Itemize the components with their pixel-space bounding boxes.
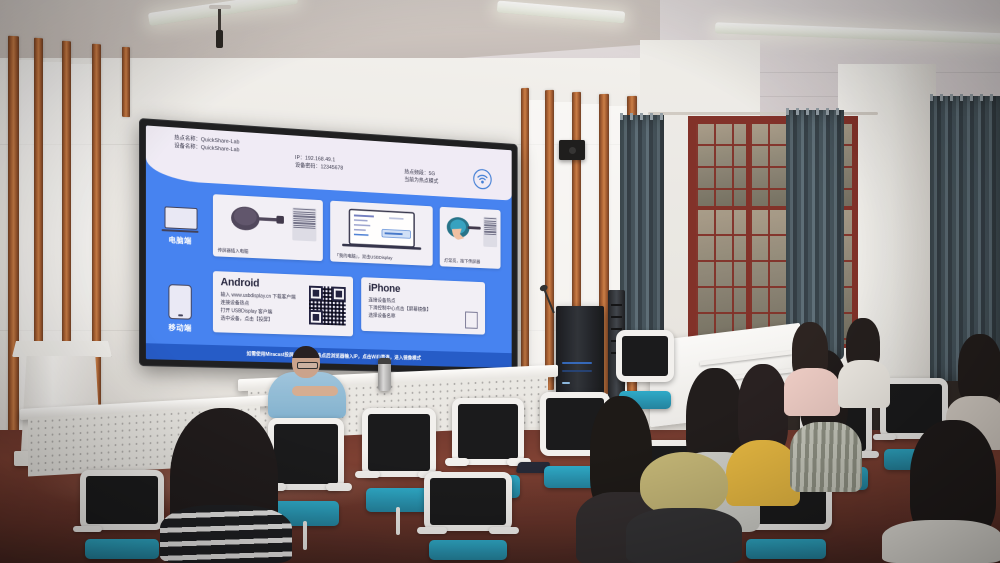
android-card[interactable]: Android 输入 www.usbdisplay.cn 下载客户端 连接设备热…: [213, 271, 353, 336]
wood-slat: [122, 47, 130, 117]
apple-logo-icon: : [463, 308, 480, 333]
smartphone-icon: [168, 284, 191, 320]
keyboard-icon: [292, 207, 316, 241]
wall-mounted-tv[interactable]: 热点名称：QuickShare-Lab 设备名称：QuickShare-Lab …: [139, 118, 518, 375]
dongle-to-laptop-icon: [228, 204, 286, 238]
tap-dongle-icon: [445, 215, 483, 247]
curtain[interactable]: [620, 115, 664, 353]
android-steps: 输入 www.usbdisplay.cn 下载客户端 连接设备热点 打开 USB…: [221, 291, 296, 325]
chair[interactable]: [424, 472, 512, 563]
laptop-icon: [162, 206, 199, 233]
wood-slat: [521, 88, 529, 388]
wall-speaker-icon: [559, 140, 585, 160]
row-label-pc: 电脑端: [155, 206, 206, 247]
presenter-hands: [292, 386, 338, 396]
pc-step-card[interactable]: 灯常亮，按下传屏器: [440, 207, 501, 269]
qr-code-icon[interactable]: [309, 286, 346, 326]
tv-screen[interactable]: 热点名称：QuickShare-Lab 设备名称：QuickShare-Lab …: [146, 125, 512, 368]
hotspot-mode: 当前为热点模式: [404, 176, 438, 186]
iphone-title: iPhone: [368, 282, 400, 295]
pc-step-card[interactable]: 传屏器插入电脑: [213, 194, 323, 261]
pc-step-card[interactable]: 「我的电脑」，双击USBDisplay: [330, 201, 433, 266]
chair[interactable]: [80, 470, 164, 563]
classroom-photo: 热点名称：QuickShare-Lab 设备名称：QuickShare-Lab …: [0, 0, 1000, 563]
iphone-card[interactable]: iPhone 连接设备热点 下滑控制中心点击【屏幕镜像】 选择设备名称 : [361, 277, 485, 335]
android-title: Android: [221, 276, 260, 289]
row-label-mobile: 移动端: [155, 284, 206, 334]
av-rack[interactable]: [556, 306, 604, 404]
keyboard-icon: [483, 217, 497, 248]
laptop-screen-icon: [342, 208, 421, 252]
pc-step-caption: 「我的电脑」，双击USBDisplay: [335, 253, 393, 261]
wood-slat: [545, 90, 554, 390]
device-password: 设备密码：12345678: [295, 162, 343, 173]
iphone-steps: 连接设备热点 下滑控制中心点击【屏幕镜像】 选择设备名称: [368, 297, 431, 322]
wifi-signal-icon: [473, 168, 492, 190]
eyeglasses-icon: [297, 362, 318, 369]
thermos-bottle[interactable]: [378, 358, 391, 391]
ceiling-hook: [218, 8, 221, 42]
